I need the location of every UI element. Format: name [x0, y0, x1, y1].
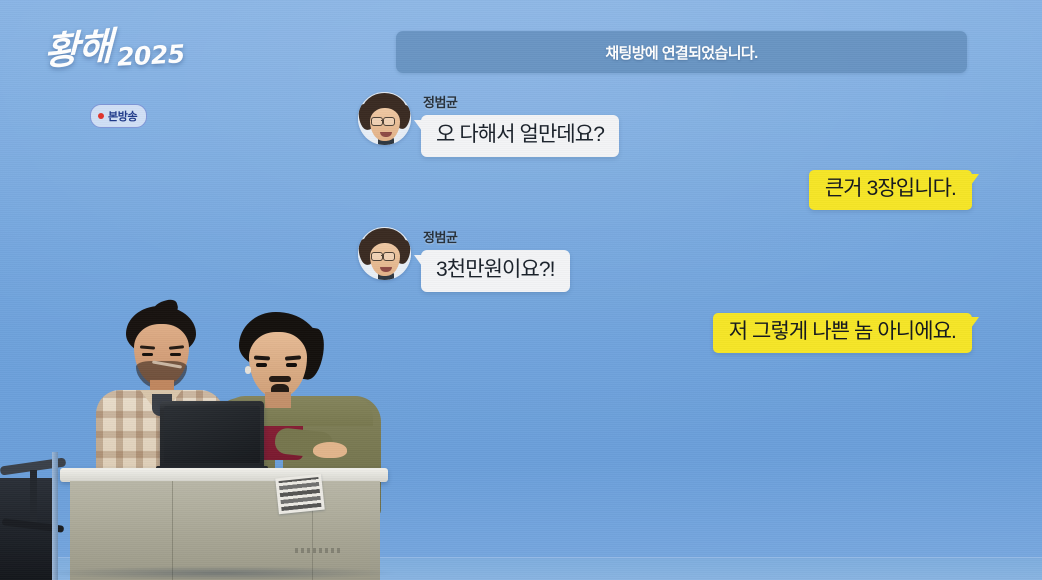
- chat-message-incoming-2: 정범균 3천만원이요?!: [358, 227, 570, 292]
- chat-message-outgoing-1: 큰거 3장입니다.: [0, 170, 972, 210]
- chat-bubble-text: 큰거 3장입니다.: [825, 178, 956, 200]
- avatar-glasses-right: [383, 252, 395, 261]
- avatar-artwork: [358, 92, 411, 145]
- avatar-artwork: [358, 227, 411, 280]
- chat-bubble-text: 3천만원이요?!: [436, 259, 555, 281]
- profile-photo-avatar: [358, 92, 411, 145]
- chat-bubble-text: 오 다해서 얼만데요?: [436, 124, 604, 146]
- avatar-glasses-left: [371, 252, 383, 261]
- avatar-glasses-left: [371, 117, 383, 126]
- chat-system-banner-text: 채팅방에 연결되었습니다.: [605, 42, 757, 63]
- broadcast-frame: 황해 2025 본방송: [0, 0, 1042, 580]
- chat-message-body: 정범균 3천만원이요?!: [421, 227, 570, 292]
- chat-message-body: 정범균 오 다해서 얼만데요?: [421, 92, 619, 157]
- chat-sender-name: 정범균: [423, 227, 570, 246]
- avatar-glasses-right: [383, 117, 395, 126]
- chat-message-outgoing-2: 저 그렇게 나쁜 놈 아니에요.: [0, 313, 972, 353]
- chat-bubble-incoming: 오 다해서 얼만데요?: [421, 115, 619, 157]
- chat-overlay: 채팅방에 연결되었습니다. 정범: [0, 0, 1042, 580]
- chat-bubble-outgoing: 저 그렇게 나쁜 놈 아니에요.: [713, 313, 972, 353]
- avatar-glasses-bridge: [381, 255, 384, 256]
- chat-bubble-outgoing: 큰거 3장입니다.: [809, 170, 972, 210]
- chat-system-banner: 채팅방에 연결되었습니다.: [396, 31, 967, 73]
- chat-bubble-text: 저 그렇게 나쁜 놈 아니에요.: [729, 321, 956, 343]
- profile-photo-avatar: [358, 227, 411, 280]
- chat-message-incoming-1: 정범균 오 다해서 얼만데요?: [358, 92, 619, 157]
- chat-bubble-incoming: 3천만원이요?!: [421, 250, 570, 292]
- avatar-glasses-bridge: [381, 120, 384, 121]
- chat-sender-name: 정범균: [423, 92, 619, 111]
